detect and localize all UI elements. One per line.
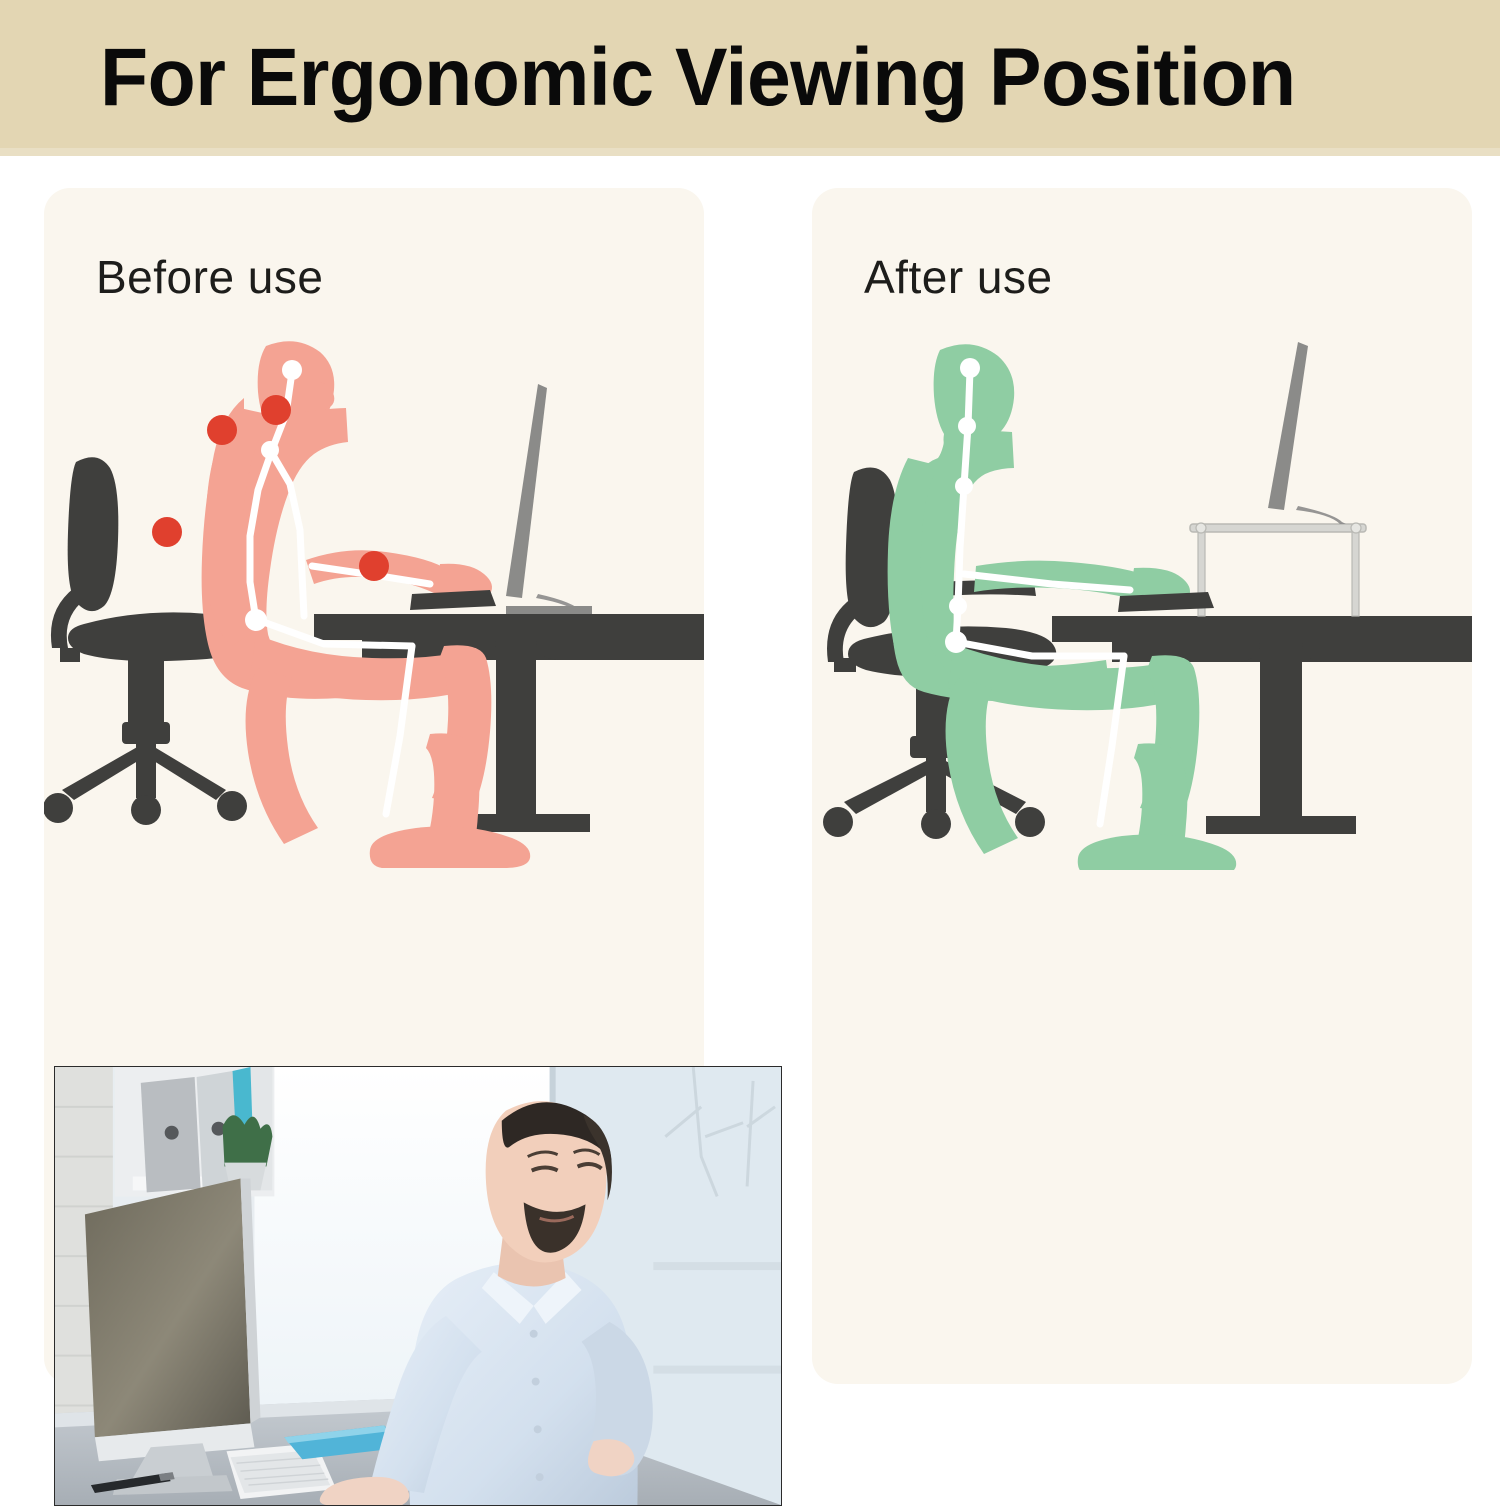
page-title: For Ergonomic Viewing Position [100,26,1367,130]
monitor-illustration-before [506,384,592,614]
illustration-after [812,338,1472,870]
panel-label-before: Before use [96,250,323,304]
panel-after: After use [812,188,1472,1384]
monitor-illustration-after [1268,342,1346,524]
pain-point-neck [261,395,291,425]
panel-label-after: After use [864,250,1053,304]
pain-point-lower-back [152,517,182,547]
monitor-riser-illustration-after [1190,523,1366,616]
pain-point-elbow [359,551,389,581]
photo-before-use [54,1066,782,1506]
pain-point-shoulder [207,415,237,445]
illustration-before [44,338,704,870]
header-banner: For Ergonomic Viewing Position [0,0,1500,156]
keyboard-illustration-before [410,590,496,610]
monitor-in-photo-before [85,1178,261,1495]
panel-before: Before use [44,188,704,1384]
header-underline [0,148,1500,156]
